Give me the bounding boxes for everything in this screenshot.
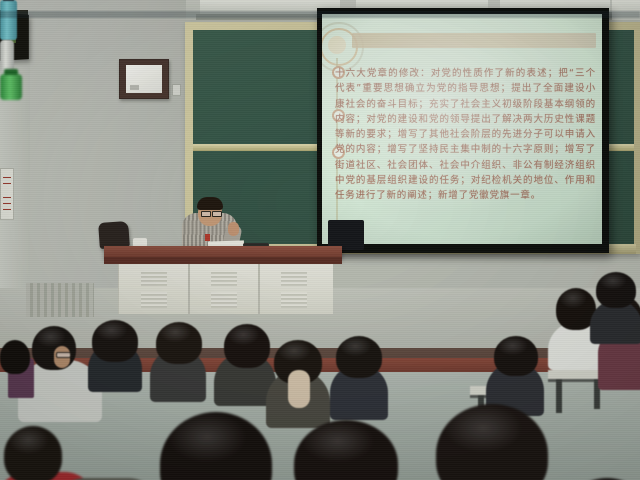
- wall-notice-sign: [0, 168, 14, 220]
- student-head: [4, 426, 62, 480]
- student-head: [494, 336, 538, 376]
- student-head: [156, 322, 202, 364]
- green-bottle: [0, 74, 22, 100]
- radiator: [26, 283, 94, 317]
- lecturer-badge: [205, 234, 210, 241]
- lecturer-hand: [228, 222, 239, 236]
- student-head: [336, 336, 382, 378]
- podium-cabinet: [118, 262, 333, 314]
- student-head: [224, 324, 270, 368]
- teal-water-bottle: [0, 0, 17, 40]
- black-bag: [98, 221, 130, 249]
- podium-divider: [188, 262, 190, 314]
- podium-divider: [258, 262, 260, 314]
- student-head: [92, 320, 138, 362]
- lecturer-eyeglasses-icon: [212, 211, 222, 217]
- student-head: [0, 340, 30, 374]
- podium-apron: [104, 257, 342, 264]
- lecturer-hair: [197, 197, 223, 210]
- lecturer-eyeglasses-icon: [201, 211, 211, 217]
- desk-leg: [556, 379, 562, 413]
- child-figure: [288, 370, 310, 408]
- lecture-hall-photo: 十六大党章的修改：对党的性质作了新的表述；把“三个代表”重要思想确立为党的指导思…: [0, 0, 640, 480]
- eyeglasses-icon: [56, 352, 71, 358]
- student-head: [596, 272, 636, 308]
